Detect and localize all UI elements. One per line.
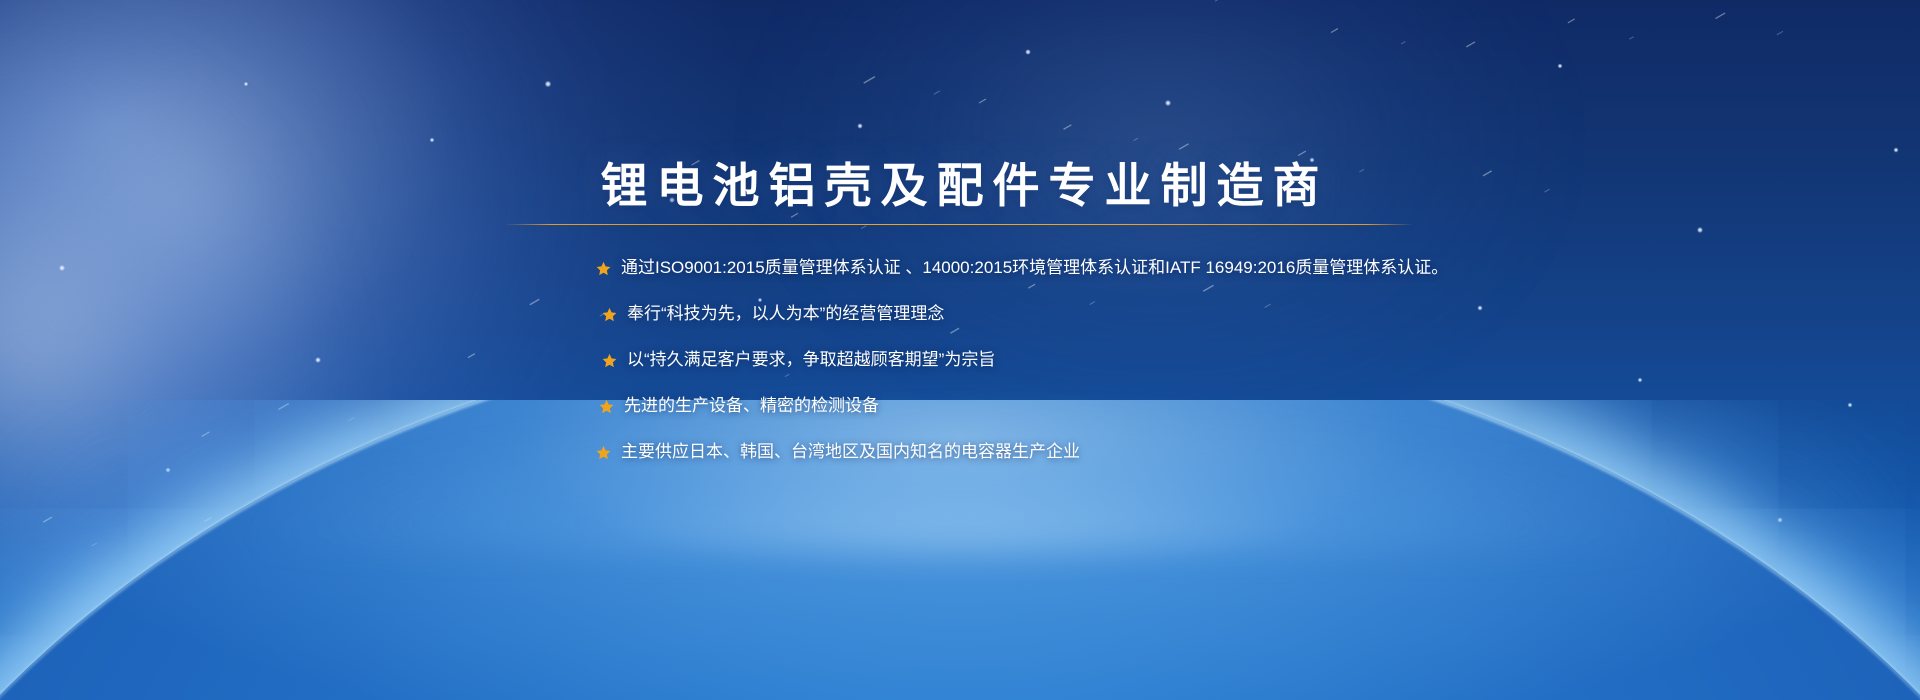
list-item-label: 先进的生产设备、精密的检测设备 [624, 393, 879, 419]
banner-content: 锂电池铝壳及配件专业制造商 通过ISO9001:2015质量管理体系认证 、14… [0, 0, 1920, 700]
page-title: 锂电池铝壳及配件专业制造商 [0, 158, 1920, 214]
feature-list: 通过ISO9001:2015质量管理体系认证 、14000:2015环境管理体系… [596, 245, 1596, 475]
star-icon [602, 307, 617, 322]
list-item: 主要供应日本、韩国、台湾地区及国内知名的电容器生产企业 [596, 429, 1596, 475]
list-item-label: 主要供应日本、韩国、台湾地区及国内知名的电容器生产企业 [621, 439, 1080, 465]
star-icon [599, 399, 614, 414]
list-item: 奉行“科技为先，以人为本”的经营管理理念 [602, 291, 1596, 337]
title-divider [506, 224, 1412, 225]
star-icon [602, 353, 617, 368]
hero-banner: 锂电池铝壳及配件专业制造商 通过ISO9001:2015质量管理体系认证 、14… [0, 0, 1920, 700]
list-item: 先进的生产设备、精密的检测设备 [599, 383, 1596, 429]
list-item-label: 奉行“科技为先，以人为本”的经营管理理念 [627, 301, 944, 327]
list-item: 以“持久满足客户要求，争取超越顾客期望”为宗旨 [602, 337, 1596, 383]
list-item-label: 以“持久满足客户要求，争取超越顾客期望”为宗旨 [627, 347, 995, 373]
list-item: 通过ISO9001:2015质量管理体系认证 、14000:2015环境管理体系… [596, 245, 1596, 291]
star-icon [596, 261, 611, 276]
star-icon [596, 445, 611, 460]
list-item-label: 通过ISO9001:2015质量管理体系认证 、14000:2015环境管理体系… [621, 255, 1448, 281]
